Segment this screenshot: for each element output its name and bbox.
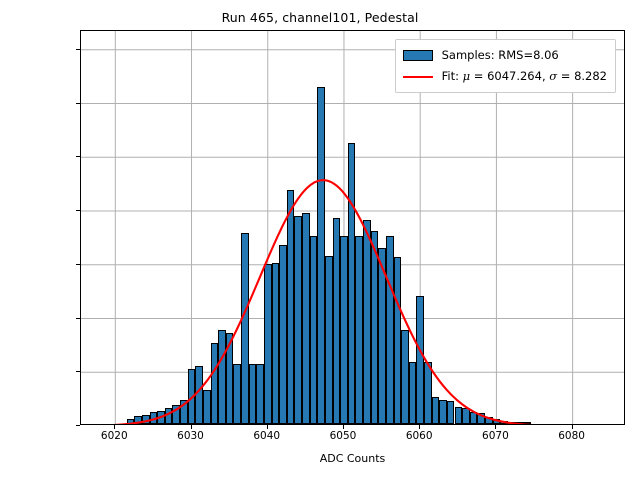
legend-entry-fit: Fit: μ = 6047.264, σ = 8.282 [403, 66, 607, 87]
x-tick-label: 6040 [237, 430, 297, 442]
plot-area: Samples: RMS=8.06 Fit: μ = 6047.264, σ =… [80, 30, 625, 425]
legend-label-samples: Samples: RMS=8.06 [442, 50, 559, 62]
legend-swatch-samples-icon [403, 50, 433, 61]
x-tick-label: 6080 [542, 430, 602, 442]
x-tick-label: 6030 [161, 430, 221, 442]
y-tick-mark [76, 425, 80, 426]
chart-figure: Run 465, channel101, Pedestal Entries AD… [0, 0, 640, 480]
legend-swatch-fit-icon [403, 76, 433, 78]
chart-title: Run 465, channel101, Pedestal [0, 10, 640, 25]
x-tick-mark [419, 425, 420, 429]
legend-entry-samples: Samples: RMS=8.06 [403, 45, 607, 66]
chart-legend[interactable]: Samples: RMS=8.06 Fit: μ = 6047.264, σ =… [395, 39, 616, 93]
x-tick-label: 6020 [84, 430, 144, 442]
x-tick-mark [343, 425, 344, 429]
x-tick-mark [191, 425, 192, 429]
x-axis-label: ADC Counts [80, 452, 625, 465]
legend-label-fit: Fit: μ = 6047.264, σ = 8.282 [442, 71, 607, 83]
x-tick-label: 6070 [465, 430, 525, 442]
x-tick-mark [114, 425, 115, 429]
x-tick-label: 6060 [389, 430, 449, 442]
x-tick-label: 6050 [313, 430, 373, 442]
x-tick-mark [572, 425, 573, 429]
x-tick-mark [495, 425, 496, 429]
x-tick-mark [267, 425, 268, 429]
